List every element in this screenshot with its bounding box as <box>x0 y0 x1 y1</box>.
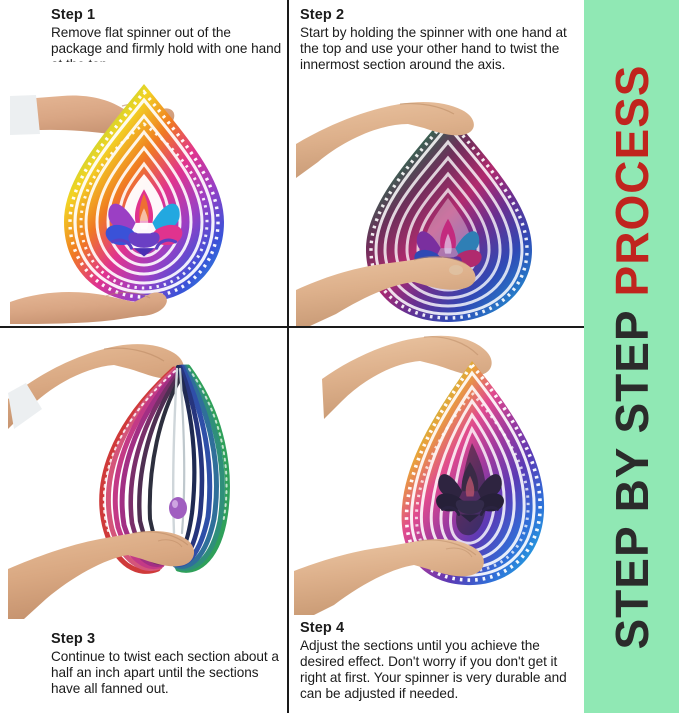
step-3-label: Step 3 <box>51 631 283 648</box>
side-banner: STEP BY STEP PROCESS <box>584 0 679 713</box>
step-3-illustration <box>8 333 280 619</box>
step-4-text: Adjust the sections until you achieve th… <box>300 638 575 702</box>
banner-title: STEP BY STEP PROCESS <box>609 64 655 649</box>
step-3-caption: Step 3 Continue to twist each section ab… <box>51 631 283 697</box>
step-panel-4: Step 4 Adjust the sections until you ach… <box>290 329 584 713</box>
vertical-divider <box>287 0 289 713</box>
step-2-label: Step 2 <box>300 7 575 24</box>
steps-grid: Step 1 Remove flat spinner out of the pa… <box>0 0 584 713</box>
step-4-label: Step 4 <box>300 620 575 637</box>
step-2-text: Start by holding the spinner with one ha… <box>300 25 575 73</box>
step-3-text: Continue to twist each section about a h… <box>51 649 283 697</box>
banner-title-part-1: STEP BY STEP <box>606 310 658 649</box>
step-4-photo <box>294 331 582 615</box>
step-2-caption: Step 2 Start by holding the spinner with… <box>300 7 575 73</box>
step-panel-1: Step 1 Remove flat spinner out of the pa… <box>0 0 288 327</box>
step-4-illustration <box>294 331 582 615</box>
axis-bead <box>169 497 187 519</box>
step-2-photo <box>296 78 584 326</box>
banner-title-part-2: PROCESS <box>606 64 658 296</box>
step-panel-2: Step 2 Start by holding the spinner with… <box>290 0 584 327</box>
step-1-photo <box>10 62 278 324</box>
horizontal-divider <box>0 326 584 328</box>
step-2-illustration <box>296 78 584 326</box>
step-3-photo <box>8 333 280 619</box>
step-1-label: Step 1 <box>51 7 283 24</box>
step-4-caption: Step 4 Adjust the sections until you ach… <box>300 620 575 702</box>
step-1-illustration <box>10 62 278 324</box>
step-by-step-infographic: Step 1 Remove flat spinner out of the pa… <box>0 0 679 713</box>
step-panel-3: Step 3 Continue to twist each section ab… <box>0 329 288 713</box>
